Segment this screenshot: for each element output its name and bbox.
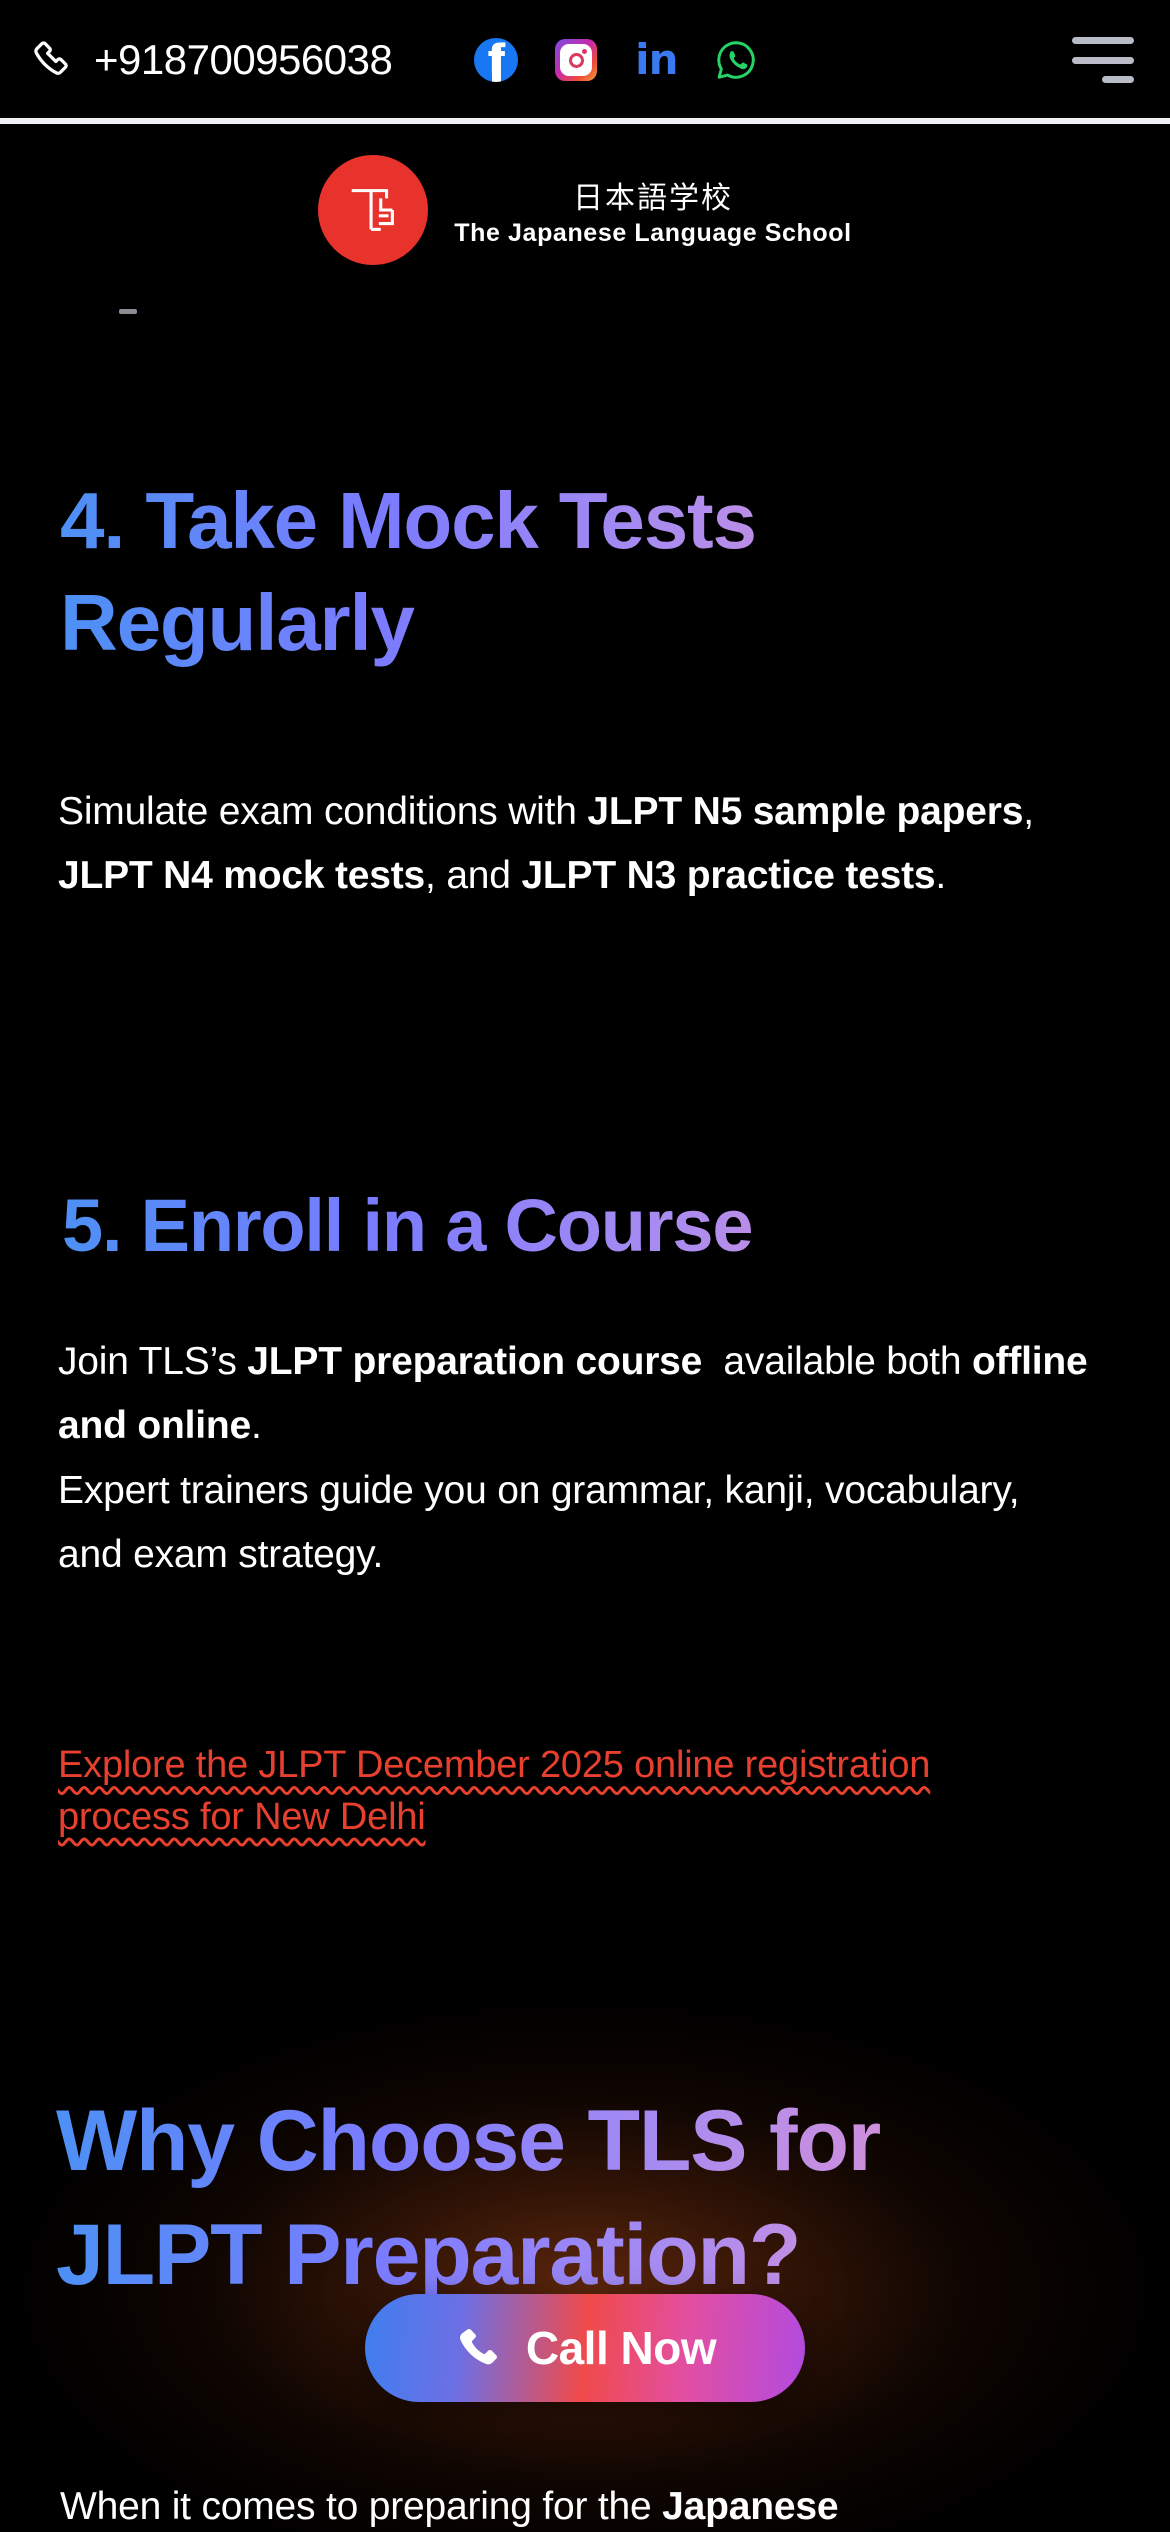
- mock-text-end: .: [935, 854, 946, 897]
- linkedin-icon: in: [635, 39, 677, 81]
- heading-why-choose-tls: Why Choose TLS for JLPT Preparation?: [56, 2085, 1086, 2312]
- mock-text-mid2: , and: [425, 854, 521, 897]
- facebook-icon: f: [474, 38, 518, 82]
- phone-icon: [30, 37, 76, 83]
- why-text-pre: When it comes to preparing for the: [60, 2485, 662, 2528]
- mock-bold-n3: JLPT N3 practice tests: [521, 854, 935, 897]
- call-now-label: Call Now: [526, 2321, 716, 2375]
- decorative-dash: [119, 309, 137, 314]
- phone-link[interactable]: +918700956038: [30, 36, 392, 84]
- tls-monogram-icon: [318, 155, 428, 265]
- hamburger-menu-icon[interactable]: [1072, 37, 1134, 83]
- paragraph-take-mock-tests: Simulate exam conditions with JLPT N5 sa…: [58, 780, 1088, 909]
- whatsapp-link[interactable]: [714, 38, 758, 82]
- heading-enroll-in-course: 5. Enroll in a Course: [62, 1180, 1072, 1273]
- mock-text-pre: Simulate exam conditions with: [58, 790, 587, 833]
- why-bold-japanese: Japanese: [662, 2485, 838, 2528]
- instagram-flash-dot: [582, 49, 587, 54]
- instagram-lens: [569, 53, 584, 68]
- phone-icon: [454, 2324, 502, 2372]
- enroll-text-line2: Expert trainers guide you on grammar, ka…: [58, 1469, 1019, 1576]
- mock-bold-n5: JLPT N5 sample papers: [587, 790, 1023, 833]
- facebook-glyph: f: [474, 38, 518, 82]
- burger-line-2: [1072, 57, 1134, 64]
- whatsapp-icon: [714, 38, 758, 82]
- enroll-bold-course: JLPT preparation course: [247, 1340, 702, 1383]
- instagram-icon: [555, 39, 597, 81]
- instagram-camera-body: [560, 44, 592, 76]
- enroll-text-end: .: [251, 1404, 262, 1447]
- jlpt-registration-link[interactable]: Explore the JLPT December 2025 online re…: [58, 1740, 958, 1843]
- brand-text: 日本語学校 The Japanese Language School: [454, 173, 851, 248]
- brand-japanese-name: 日本語学校: [573, 173, 733, 217]
- heading-take-mock-tests: 4. Take Mock Tests Regularly: [60, 470, 1060, 675]
- brand-logo-row[interactable]: 日本語学校 The Japanese Language School: [0, 155, 1170, 265]
- paragraph-enroll: Join TLS’s JLPT preparation course avail…: [58, 1330, 1088, 1587]
- linkedin-link[interactable]: in: [634, 38, 678, 82]
- paragraph-why-choose: When it comes to preparing for the Japan…: [60, 2475, 1120, 2532]
- mock-bold-n4: JLPT N4 mock tests: [58, 854, 425, 897]
- burger-line-3: [1102, 76, 1134, 83]
- phone-number: +918700956038: [94, 36, 392, 84]
- top-bar: +918700956038 f in: [0, 0, 1170, 120]
- enroll-text-pre: Join TLS’s: [58, 1340, 247, 1383]
- page-root: +918700956038 f in: [0, 0, 1170, 2532]
- social-links: f in: [474, 38, 758, 82]
- enroll-text-mid: available both: [702, 1340, 972, 1383]
- instagram-link[interactable]: [554, 38, 598, 82]
- mock-text-mid1: ,: [1023, 790, 1034, 833]
- facebook-link[interactable]: f: [474, 38, 518, 82]
- brand-english-name: The Japanese Language School: [454, 219, 851, 248]
- burger-line-1: [1072, 37, 1134, 44]
- header-divider: [0, 118, 1170, 124]
- call-now-button[interactable]: Call Now: [365, 2294, 805, 2402]
